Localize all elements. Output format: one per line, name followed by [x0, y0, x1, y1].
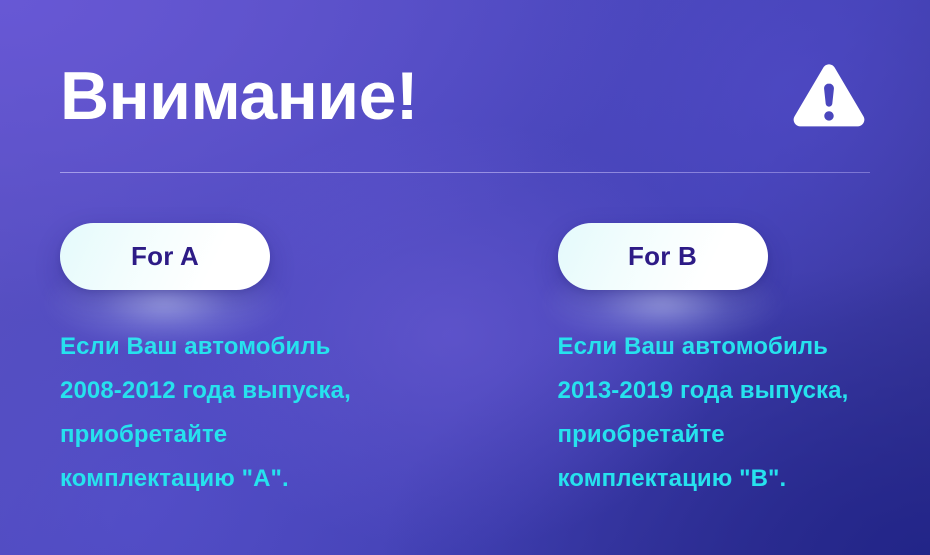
header-divider — [60, 172, 870, 173]
attention-banner: Внимание! For A Если Ваш автомобиль 2008… — [0, 0, 930, 555]
for-b-button-label: For B — [628, 243, 697, 271]
option-column-a: For A Если Ваш автомобиль 2008-2012 года… — [60, 223, 383, 501]
option-column-b: For B Если Ваш автомобиль 2013-2019 года… — [558, 223, 881, 501]
for-b-button-wrap: For B — [558, 223, 768, 290]
banner-header: Внимание! — [60, 52, 870, 140]
for-a-button-wrap: For A — [60, 223, 270, 290]
option-a-description: Если Ваш автомобиль 2008-2012 года выпус… — [60, 325, 383, 501]
for-a-button-label: For A — [131, 243, 199, 271]
for-a-button[interactable]: For A — [60, 223, 270, 290]
option-b-description: Если Ваш автомобиль 2013-2019 года выпус… — [558, 325, 881, 501]
page-title: Внимание! — [60, 62, 418, 130]
for-b-button[interactable]: For B — [558, 223, 768, 290]
warning-triangle-icon — [792, 63, 866, 129]
options-container: For A Если Ваш автомобиль 2008-2012 года… — [60, 223, 880, 501]
